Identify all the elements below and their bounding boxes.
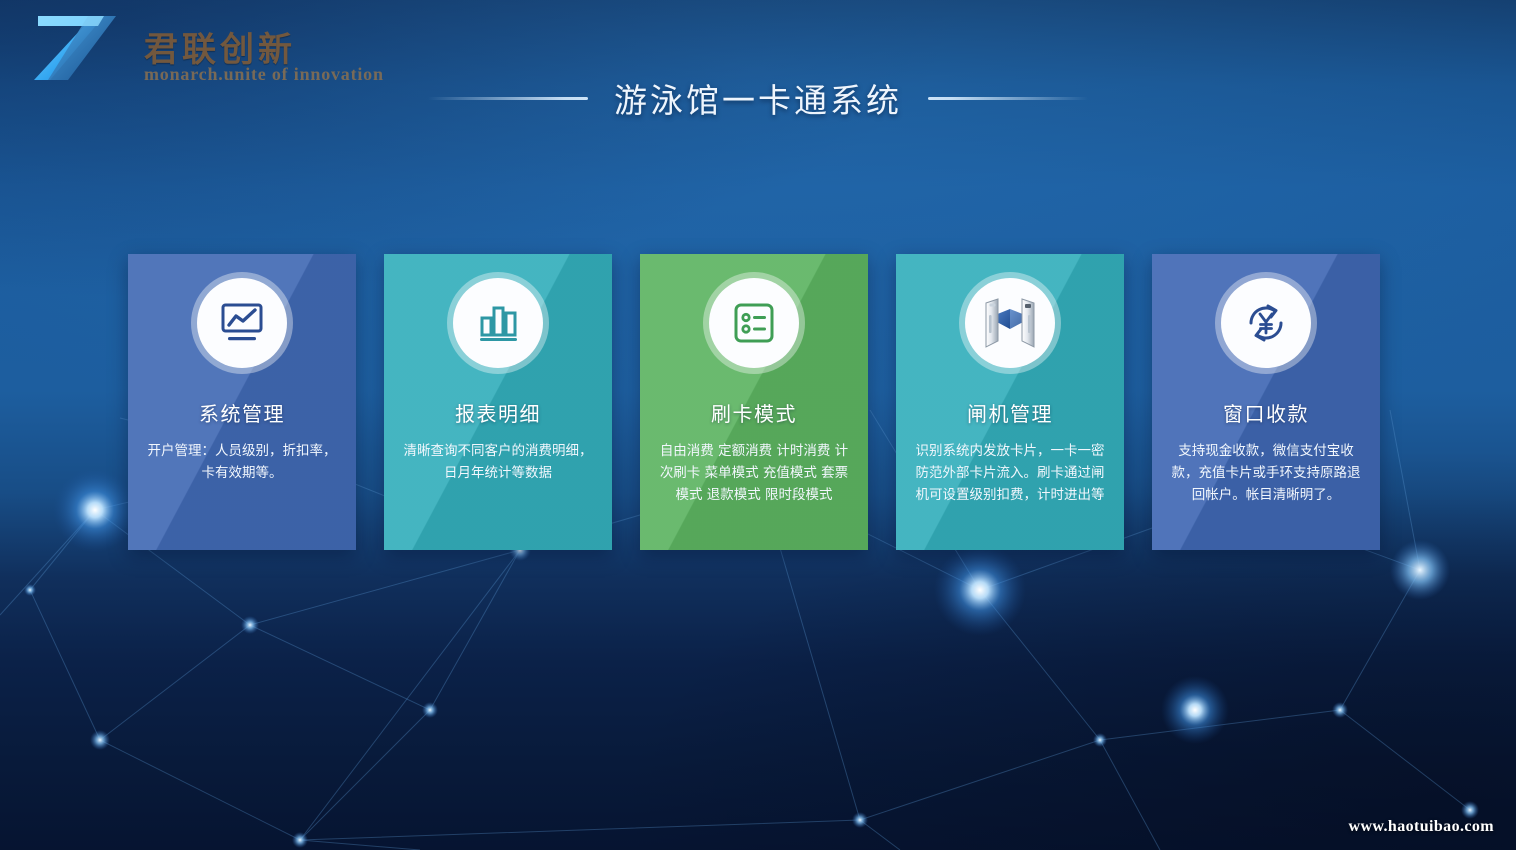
page-title-row: 游泳馆一卡通系统: [0, 74, 1516, 122]
card-description: 识别系统内发放卡片，一卡一密防范外部卡片流入。刷卡通过闸机可设置级别扣费，计时进…: [910, 440, 1110, 506]
bar-chart-icon: [453, 278, 543, 368]
card-description: 支持现金收款，微信支付宝收款，充值卡片或手环支持原路退回帐户。帐目清晰明了。: [1166, 440, 1366, 506]
title-rule-left: [428, 97, 588, 100]
monitor-line-chart-icon: [197, 278, 287, 368]
turnstile-gate-icon: [965, 278, 1055, 368]
card-title: 刷卡模式: [640, 398, 868, 427]
title-rule-right: [928, 97, 1088, 100]
feature-card-system-management[interactable]: 系统管理 开户管理：人员级别，折扣率，卡有效期等。: [128, 254, 356, 550]
card-description: 开户管理：人员级别，折扣率，卡有效期等。: [142, 440, 342, 484]
feature-card-counter-payment[interactable]: 窗口收款 支持现金收款，微信支付宝收款，充值卡片或手环支持原路退回帐户。帐目清晰…: [1152, 254, 1380, 550]
card-description: 清晰查询不同客户的消费明细，日月年统计等数据: [398, 440, 598, 484]
checklist-icon: [709, 278, 799, 368]
card-title: 报表明细: [384, 398, 612, 427]
feature-card-card-swipe-mode[interactable]: 刷卡模式 自由消费 定额消费 计时消费 计次刷卡 菜单模式 充值模式 套票模式 …: [640, 254, 868, 550]
card-title: 窗口收款: [1152, 398, 1380, 427]
yuan-refund-icon: [1221, 278, 1311, 368]
site-watermark: www.haotuibao.com: [1349, 818, 1494, 836]
feature-card-gate-management[interactable]: 闸机管理 识别系统内发放卡片，一卡一密防范外部卡片流入。刷卡通过闸机可设置级别扣…: [896, 254, 1124, 550]
feature-card-row: 系统管理 开户管理：人员级别，折扣率，卡有效期等。 报表明细 清晰查询不同客户的…: [128, 254, 1388, 550]
card-description: 自由消费 定额消费 计时消费 计次刷卡 菜单模式 充值模式 套票模式 退款模式 …: [654, 440, 854, 506]
card-title: 闸机管理: [896, 398, 1124, 427]
page-title: 游泳馆一卡通系统: [614, 74, 902, 122]
feature-card-report-detail[interactable]: 报表明细 清晰查询不同客户的消费明细，日月年统计等数据: [384, 254, 612, 550]
card-title: 系统管理: [128, 398, 356, 427]
